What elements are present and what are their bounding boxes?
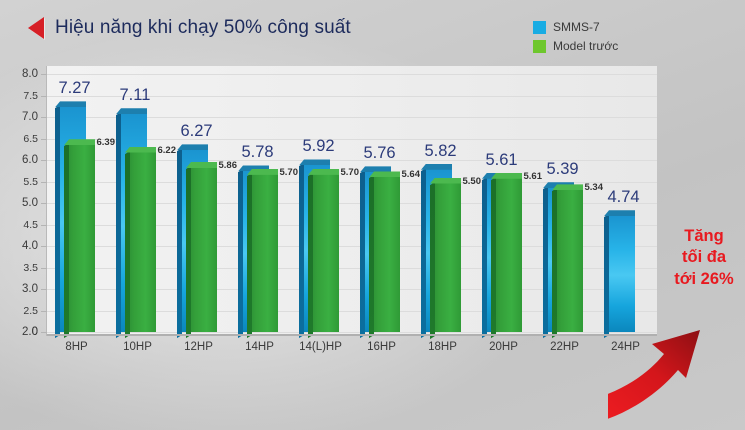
legend-swatch-previous-model: [533, 40, 546, 53]
annotation-line-2: tối đa: [668, 247, 740, 268]
y-axis-label: 3.0: [22, 283, 38, 295]
bar-group: [309, 66, 335, 336]
x-axis-label: 10HP: [123, 341, 152, 353]
bar-series-layer: 7.276.397.116.226.275.865.785.705.925.70…: [47, 66, 657, 336]
value-label-previous-model: 5.64: [402, 169, 421, 180]
value-label-smms7: 5.92: [303, 137, 335, 156]
value-label-previous-model: 6.39: [97, 137, 116, 148]
y-axis-label: 5.5: [23, 176, 38, 188]
bar-front-face: [191, 166, 217, 332]
bar-top-face: [369, 171, 400, 177]
bar-top-face: [430, 178, 461, 184]
bar-front-face: [609, 214, 635, 332]
x-axis-label: 12HP: [184, 341, 213, 353]
bar-top-face: [360, 166, 391, 172]
bar-top-face: [125, 147, 156, 153]
title-text: Hiệu năng khi chạy 50% công suất: [55, 17, 351, 39]
chart-legend: SMMS-7 Model trước: [533, 20, 618, 58]
value-label-smms7: 7.11: [120, 86, 151, 105]
value-label-previous-model: 5.70: [341, 167, 360, 178]
value-label-smms7: 6.27: [181, 122, 213, 141]
legend-label-smms7: SMMS-7: [553, 20, 600, 34]
bar-previous-model[interactable]: [557, 188, 583, 332]
bar-top-face: [116, 108, 147, 114]
value-label-smms7: 5.61: [486, 151, 518, 170]
bar-top-face: [177, 144, 208, 150]
bar-top-face: [552, 184, 583, 190]
x-axis-label: 20HP: [489, 341, 518, 353]
bar-group: [492, 66, 518, 336]
bar-previous-model[interactable]: [496, 177, 522, 332]
value-label-previous-model: 5.70: [280, 167, 299, 178]
bar-group: [431, 66, 457, 336]
value-label-smms7: 7.27: [59, 79, 91, 98]
bar-front-face: [374, 175, 400, 332]
bar-group: [553, 66, 579, 336]
y-axis-label: 6.0: [22, 154, 38, 166]
bar-top-face: [491, 173, 522, 179]
bar-front-face: [69, 143, 95, 332]
value-label-previous-model: 5.61: [524, 171, 543, 182]
y-axis-label: 7.5: [23, 90, 38, 102]
page-title: Hiệu năng khi chạy 50% công suất: [28, 17, 351, 39]
curved-up-right-arrow-icon: [608, 318, 745, 430]
legend-label-previous-model: Model trước: [553, 39, 618, 53]
bar-top-face: [55, 101, 86, 107]
bar-top-face: [299, 159, 330, 165]
bar-previous-model[interactable]: [435, 182, 461, 333]
bar-group: [248, 66, 274, 336]
legend-item-previous-model: Model trước: [533, 39, 618, 53]
bar-front-face: [252, 173, 278, 332]
bar-group: [370, 66, 396, 336]
bar-previous-model[interactable]: [313, 173, 339, 332]
x-axis-label: 14HP: [245, 341, 274, 353]
bar-group: [65, 66, 91, 336]
x-axis-labels: 8HP10HP12HP14HP14(L)HP16HP18HP20HP22HP24…: [46, 341, 656, 361]
bar-previous-model[interactable]: [69, 143, 95, 332]
value-label-smms7: 5.39: [547, 160, 579, 179]
value-label-smms7: 5.78: [242, 143, 274, 162]
value-label-previous-model: 6.22: [158, 145, 177, 156]
bar-front-face: [130, 151, 156, 332]
value-label-previous-model: 5.86: [219, 160, 238, 171]
bar-top-face: [64, 139, 95, 145]
y-axis-label: 4.0: [22, 240, 38, 252]
bar-previous-model[interactable]: [374, 175, 400, 332]
bar-top-face: [308, 169, 339, 175]
y-axis-label: 8.0: [22, 68, 38, 80]
legend-swatch-smms7: [533, 21, 546, 34]
bar-previous-model[interactable]: [252, 173, 278, 332]
bar-top-face: [186, 162, 217, 168]
value-label-smms7: 5.82: [425, 142, 457, 161]
value-label-previous-model: 5.34: [585, 182, 604, 193]
bar-group: [126, 66, 152, 336]
annotation-line-3: tới 26%: [668, 269, 740, 290]
y-axis-label: 2.5: [23, 305, 38, 317]
value-label-previous-model: 5.50: [463, 176, 482, 187]
plot-area: 8.07.57.06.56.05.55.04.54.03.53.02.52.00…: [46, 66, 657, 336]
y-axis-label: 4.5: [23, 219, 38, 231]
bar-smms7[interactable]: [609, 214, 635, 332]
x-axis-line: [47, 334, 657, 336]
bar-top-face: [421, 164, 452, 170]
bar-previous-model[interactable]: [191, 166, 217, 332]
value-label-smms7: 5.76: [364, 144, 396, 163]
triangle-left-icon: [28, 17, 44, 39]
y-axis-label: 0: [32, 326, 38, 338]
annotation-line-1: Tăng: [668, 226, 740, 247]
x-axis-label: 14(L)HP: [299, 341, 342, 353]
y-axis-label: 7.0: [22, 111, 38, 123]
bar-top-face: [247, 169, 278, 175]
y-axis-label: 6.5: [23, 133, 38, 145]
bar-front-face: [557, 188, 583, 332]
y-axis-label: 5.0: [22, 197, 38, 209]
value-label-smms7: 4.74: [608, 188, 640, 207]
bar-front-face: [313, 173, 339, 332]
bar-top-face: [604, 210, 635, 216]
bar-front-face: [435, 182, 461, 333]
x-axis-label: 8HP: [65, 341, 87, 353]
legend-item-smms7: SMMS-7: [533, 20, 618, 34]
x-axis-label: 22HP: [550, 341, 579, 353]
annotation-text: Tăng tối đa tới 26%: [668, 226, 740, 290]
x-axis-label: 18HP: [428, 341, 457, 353]
bar-group: [187, 66, 213, 336]
x-axis-label: 16HP: [367, 341, 396, 353]
bar-previous-model[interactable]: [130, 151, 156, 332]
bar-front-face: [496, 177, 522, 332]
y-axis-label: 3.5: [23, 262, 38, 274]
